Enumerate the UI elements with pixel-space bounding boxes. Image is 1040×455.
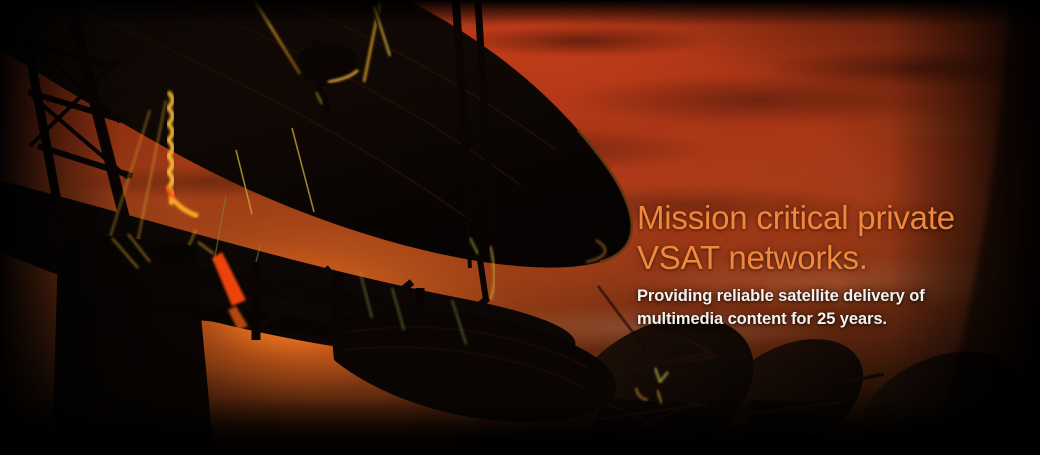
hero-subheadline: Providing reliable satellite delivery of… xyxy=(637,285,1027,331)
edge-fade-bottom xyxy=(0,397,1040,455)
edge-fade-left xyxy=(0,0,120,455)
edge-fade-top xyxy=(0,0,1040,26)
hero-banner: Mission critical private VSAT networks. … xyxy=(0,0,1040,455)
hero-copy-block: Mission critical private VSAT networks. … xyxy=(637,198,1027,331)
hero-headline: Mission critical private VSAT networks. xyxy=(637,198,1027,278)
